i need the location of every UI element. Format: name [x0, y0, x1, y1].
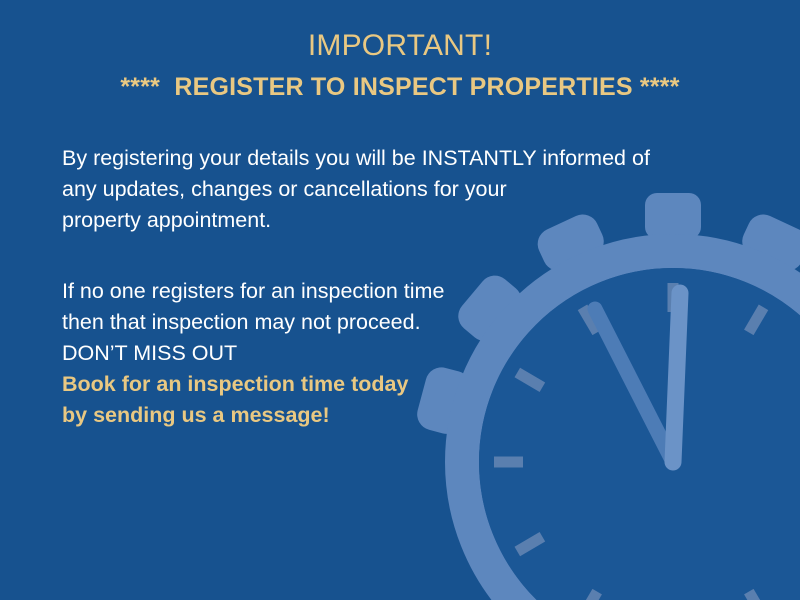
- cta-dont-miss-out: DON’T MISS OUT: [62, 338, 722, 369]
- body-block: By registering your details you will be …: [62, 143, 722, 431]
- slide-canvas: IMPORTANT! **** REGISTER TO INSPECT PROP…: [0, 0, 800, 600]
- paragraph-no-registration-warning: If no one registers for an inspection ti…: [62, 276, 722, 338]
- cta-book-inspection: Book for an inspection time today by sen…: [62, 369, 722, 431]
- heading-block: IMPORTANT! **** REGISTER TO INSPECT PROP…: [0, 28, 800, 102]
- slide-content: IMPORTANT! **** REGISTER TO INSPECT PROP…: [0, 0, 800, 600]
- paragraph-registering-benefits: By registering your details you will be …: [62, 143, 722, 236]
- page-title-important: IMPORTANT!: [0, 28, 800, 63]
- page-title-register: **** REGISTER TO INSPECT PROPERTIES ****: [0, 72, 800, 102]
